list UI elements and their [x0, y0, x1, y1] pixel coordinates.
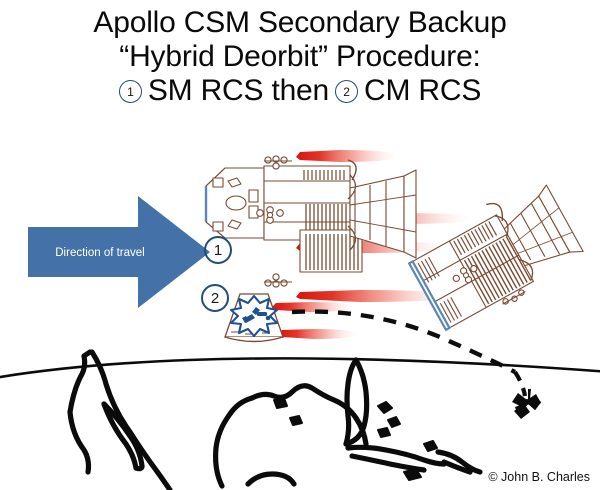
copyright-credit: © John B. Charles [488, 470, 590, 484]
step-marker-1: 1 [204, 236, 232, 264]
earth-horizon-line [0, 358, 600, 378]
trajectory-descent-tail [515, 372, 525, 396]
slide-canvas: Apollo CSM Secondary Backup “Hybrid Deor… [0, 0, 600, 490]
jettisoned-service-module [402, 175, 588, 338]
command-module-capsule [225, 294, 362, 342]
arrow-label: Direction of travel [40, 247, 160, 259]
step-marker-2: 2 [201, 284, 229, 312]
impact-burst-icon [512, 389, 542, 419]
coastline-map [70, 352, 480, 490]
